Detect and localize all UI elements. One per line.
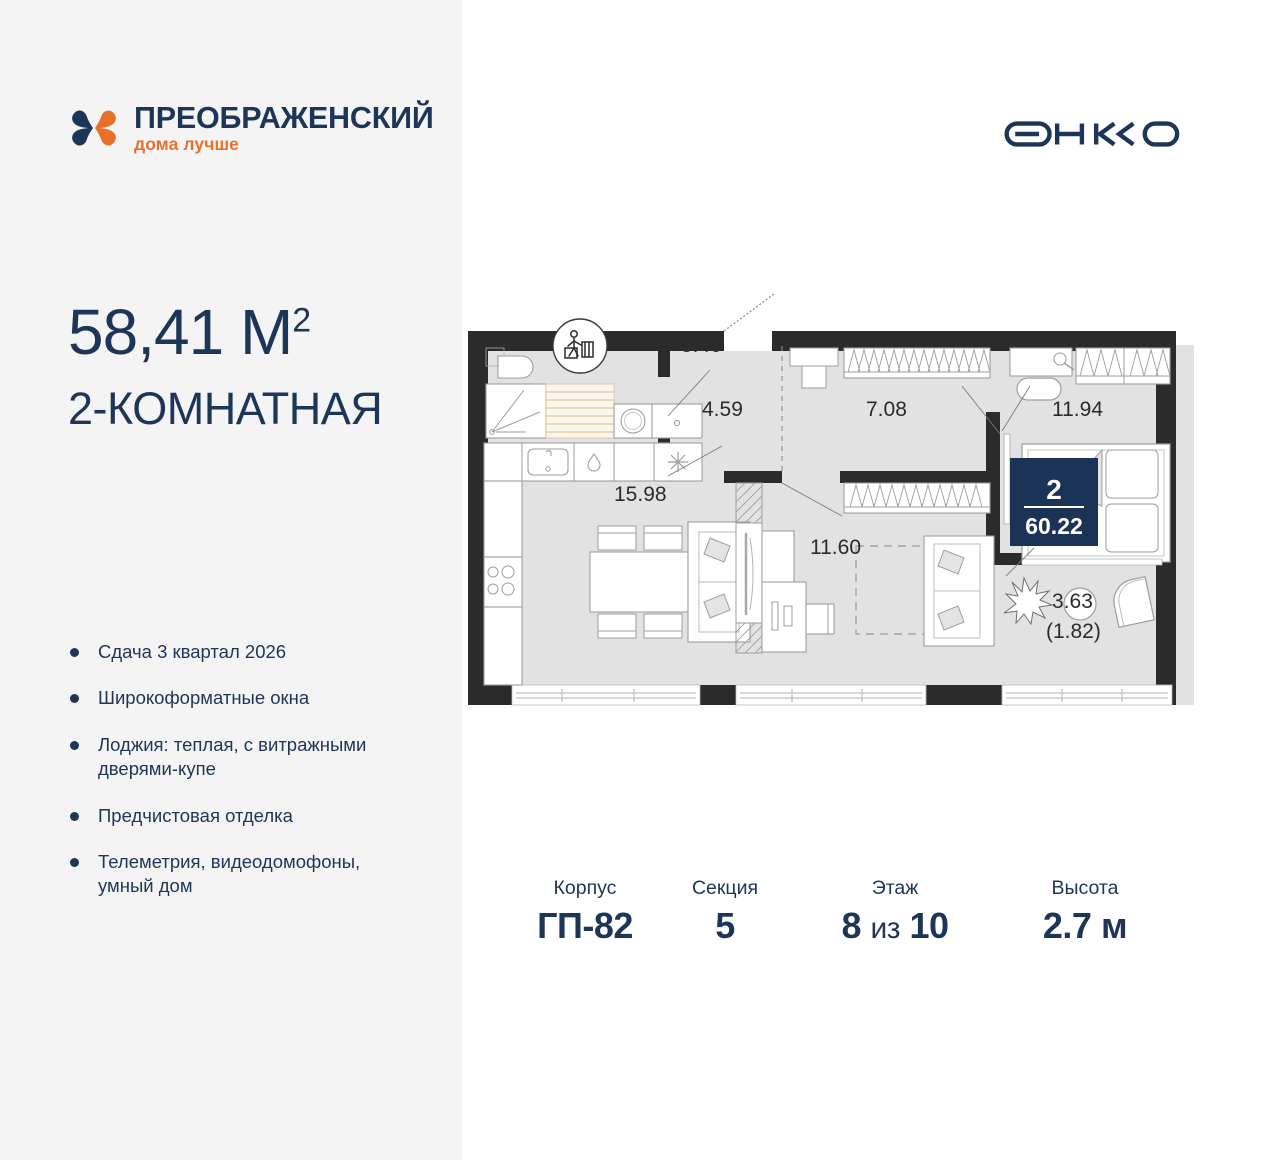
meta-floor-label: Этаж xyxy=(790,876,1000,901)
enko-wordmark-icon[interactable] xyxy=(1000,110,1200,158)
headline-block: 58,41 М2 2-КОМНАТНАЯ xyxy=(68,300,382,431)
entrance-door xyxy=(724,294,774,351)
plan-windows xyxy=(512,685,1172,705)
apartment-area: 58,41 М2 xyxy=(68,300,382,364)
bullet-icon xyxy=(70,648,79,657)
meta-section: Секция 5 xyxy=(660,876,790,948)
area-label-loggia-coefficient: (1.82) xyxy=(1046,620,1101,643)
meta-building-value: ГП-82 xyxy=(510,903,660,948)
bullet-icon xyxy=(70,812,79,821)
area-label-bathroom: 5.40 xyxy=(681,334,722,357)
list-item: Широкоформатные окна xyxy=(70,686,400,710)
apartment-floorplan[interactable]: 5.40 xyxy=(462,286,1222,726)
brand-text-block: ПРЕОБРАЖЕНСКИЙ дома лучше xyxy=(134,103,434,153)
floorplan-page: ПРЕОБРАЖЕНСКИЙ дома лучше 58,41 М2 2-КОМ… xyxy=(0,0,1280,1160)
area-number: 58,41 xyxy=(68,296,223,368)
bullet-icon xyxy=(70,741,79,750)
area-exponent: 2 xyxy=(292,302,310,340)
area-unit: М xyxy=(240,296,292,368)
meta-floor-total: 10 xyxy=(910,905,949,946)
meta-height-value: 2.7 м xyxy=(1000,903,1170,948)
list-item: Телеметрия, видеодомофоны, умный дом xyxy=(70,850,400,899)
area-label-loggia: 3.63 xyxy=(1052,590,1093,613)
bullet-icon xyxy=(70,694,79,703)
area-label-corridor: 7.08 xyxy=(866,398,907,421)
badge-total-area: 60.22 xyxy=(1025,513,1083,539)
meta-floor-current: 8 xyxy=(841,905,861,946)
left-info-panel: ПРЕОБРАЖЕНСКИЙ дома лучше 58,41 М2 2-КОМ… xyxy=(0,0,462,1160)
meta-height: Высота 2.7 м xyxy=(1000,876,1170,948)
butterfly-logo-icon xyxy=(68,100,120,156)
bullet-icon xyxy=(70,858,79,867)
features-list: Сдача 3 квартал 2026 Широкоформатные окн… xyxy=(70,640,400,899)
apartment-meta-row: Корпус ГП-82 Секция 5 Этаж 8 из 10 Высот… xyxy=(510,876,1170,948)
brand-logo[interactable]: ПРЕОБРАЖЕНСКИЙ дома лучше xyxy=(68,100,434,156)
brand-title: ПРЕОБРАЖЕНСКИЙ xyxy=(134,103,434,134)
meta-section-label: Секция xyxy=(660,876,790,901)
feature-text: Сдача 3 квартал 2026 xyxy=(98,640,286,664)
area-label-bedroom: 11.94 xyxy=(1052,398,1103,421)
meta-building-label: Корпус xyxy=(510,876,660,901)
area-label-hall: 4.59 xyxy=(702,398,743,421)
feature-text: Телеметрия, видеодомофоны, умный дом xyxy=(98,850,400,899)
meta-height-label: Высота xyxy=(1000,876,1170,901)
brand-tagline: дома лучше xyxy=(134,136,434,154)
feature-text: Широкоформатные окна xyxy=(98,686,309,710)
meta-floor-value: 8 из 10 xyxy=(790,903,1000,948)
meta-floor-of: из xyxy=(870,912,900,945)
badge-room-count: 2 xyxy=(1046,474,1062,505)
feature-text: Лоджия: теплая, с витражными дверями-куп… xyxy=(98,733,400,782)
meta-building: Корпус ГП-82 xyxy=(510,876,660,948)
meta-floor: Этаж 8 из 10 xyxy=(790,876,1000,948)
area-label-living: 11.60 xyxy=(810,536,861,559)
list-item: Сдача 3 квартал 2026 xyxy=(70,640,400,664)
list-item: Лоджия: теплая, с витражными дверями-куп… xyxy=(70,733,400,782)
list-item: Предчистовая отделка xyxy=(70,804,400,828)
feature-text: Предчистовая отделка xyxy=(98,804,293,828)
area-label-kitchen-living: 15.98 xyxy=(614,483,667,506)
meta-section-value: 5 xyxy=(660,903,790,948)
room-count-label: 2-КОМНАТНАЯ xyxy=(68,386,382,431)
status-badge: 2 60.22 xyxy=(1010,458,1098,546)
